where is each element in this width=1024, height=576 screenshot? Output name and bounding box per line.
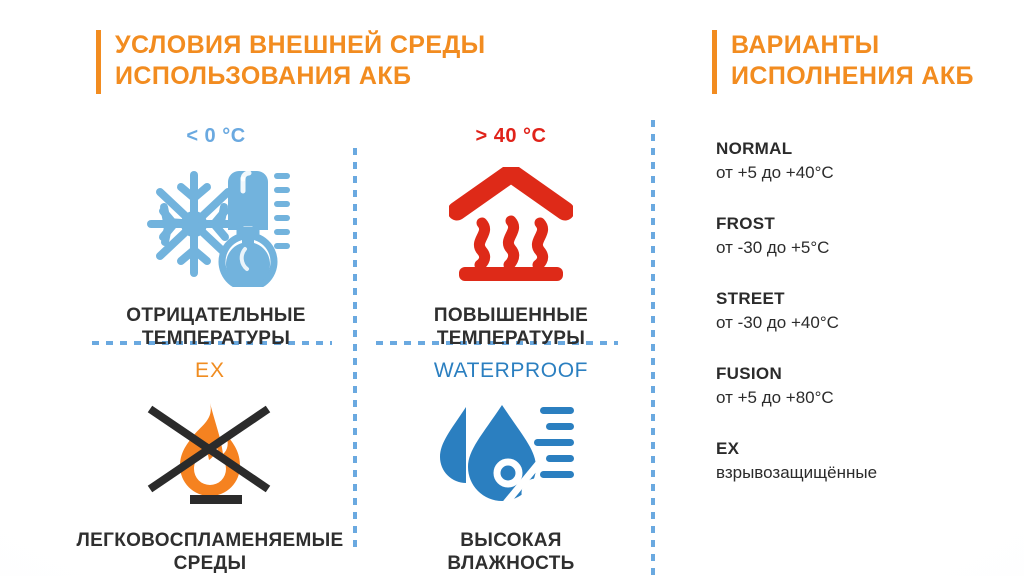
- condition-hot-label: ПОВЫШЕННЫЕ ТЕМПЕРАТУРЫ: [434, 304, 588, 350]
- variant-normal-name: NORMAL: [716, 138, 1016, 160]
- variant-street-name: STREET: [716, 288, 1016, 310]
- variant-fusion: FUSION от +5 до +80°C: [716, 363, 1016, 410]
- variant-fusion-name: FUSION: [716, 363, 1016, 385]
- water-drops-percent-icon: [436, 397, 586, 515]
- condition-ex-label: ЛЕГКОВОСПЛАМЕНЯЕМЫЕ СРЕДЫ: [77, 529, 344, 575]
- condition-wet-label: ВЫСОКАЯ ВЛАЖНОСТЬ: [447, 529, 574, 575]
- variant-ex-range: взрывозащищённые: [716, 462, 1016, 485]
- no-flame-icon: [134, 397, 286, 515]
- variants-list: NORMAL от +5 до +40°C FROST от -30 до +5…: [716, 138, 1016, 485]
- variant-frost-range: от -30 до +5°C: [716, 237, 1016, 260]
- variant-normal: NORMAL от +5 до +40°C: [716, 138, 1016, 185]
- heading-right-accent-bar: [712, 30, 717, 94]
- condition-hot: > 40 °C ПОВЫШЕННЫЕ ТЕМПЕРАТУРЫ: [370, 126, 652, 350]
- variant-frost-name: FROST: [716, 213, 1016, 235]
- condition-cold-caption: < 0 °C: [186, 126, 245, 146]
- heading-left-accent-bar: [96, 30, 101, 94]
- infographic-page: УСЛОВИЯ ВНЕШНЕЙ СРЕДЫ ИСПОЛЬЗОВАНИЯ АКБ …: [0, 0, 1024, 576]
- condition-wet: WATERPROOF: [370, 360, 652, 575]
- condition-wet-caption: WATERPROOF: [434, 360, 588, 381]
- variant-normal-range: от +5 до +40°C: [716, 162, 1016, 185]
- condition-ex: EX ЛЕГКОВОСПЛАМЕНЯЕМЫЕ СРЕДЫ: [60, 360, 360, 575]
- heading-right-text: ВАРИАНТЫ ИСПОЛНЕНИЯ АКБ: [731, 30, 974, 93]
- variant-fusion-range: от +5 до +80°C: [716, 387, 1016, 410]
- condition-cold: < 0 °C: [75, 126, 357, 350]
- condition-hot-caption: > 40 °C: [476, 126, 547, 146]
- heading-right: ВАРИАНТЫ ИСПОЛНЕНИЯ АКБ: [712, 30, 974, 94]
- snowflake-thermometer-icon: [141, 162, 291, 290]
- heading-left-text: УСЛОВИЯ ВНЕШНЕЙ СРЕДЫ ИСПОЛЬЗОВАНИЯ АКБ: [115, 30, 486, 93]
- heat-roof-icon: [449, 162, 573, 290]
- condition-ex-caption: EX: [195, 360, 225, 381]
- variant-street-range: от -30 до +40°C: [716, 312, 1016, 335]
- variant-ex: EX взрывозащищённые: [716, 438, 1016, 485]
- heading-left: УСЛОВИЯ ВНЕШНЕЙ СРЕДЫ ИСПОЛЬЗОВАНИЯ АКБ: [96, 30, 486, 94]
- variant-street: STREET от -30 до +40°C: [716, 288, 1016, 335]
- condition-cold-label: ОТРИЦАТЕЛЬНЫЕ ТЕМПЕРАТУРЫ: [126, 304, 306, 350]
- variant-frost: FROST от -30 до +5°C: [716, 213, 1016, 260]
- variant-ex-name: EX: [716, 438, 1016, 460]
